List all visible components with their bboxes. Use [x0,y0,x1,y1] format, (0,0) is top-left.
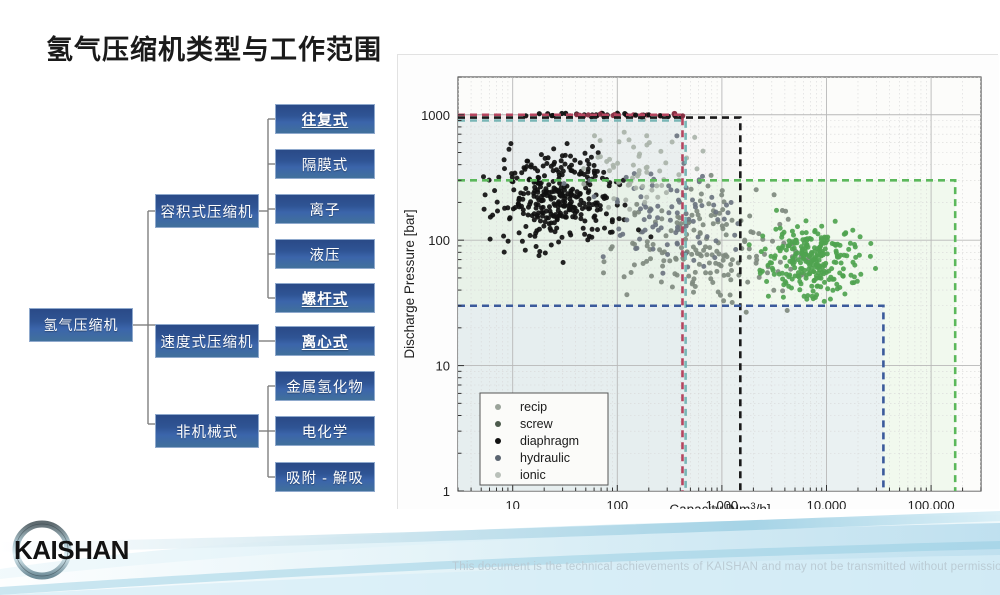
data-point-hydraulic [722,217,727,222]
data-point-screw [780,271,785,276]
data-point-hydraulic [649,207,654,212]
data-point-recip [698,230,703,235]
legend-label-ionic: ionic [520,468,546,482]
data-point-recip [624,292,629,297]
data-point-screw [852,274,857,279]
data-point-recip [697,262,702,267]
data-point-diaphragm [501,234,506,239]
data-point-recip [659,216,664,221]
data-point-ionic [581,182,586,187]
data-point-screw [823,235,828,240]
data-point-diaphragm [595,169,600,174]
data-point-diaphragm [544,161,549,166]
data-point-diaphragm [574,209,579,214]
data-point-screw [822,299,827,304]
data-point-diaphragm [544,189,549,194]
tree-leaf-label: 液压 [310,244,341,265]
data-point-hydraulic [638,206,643,211]
legend-marker-ionic [495,472,501,478]
data-point-screw [766,294,771,299]
data-point-diaphragm [570,187,575,192]
tree-leaf-electrochemical[interactable]: 电化学 [275,416,375,446]
data-point-screw [793,274,798,279]
data-point-screw [804,218,809,223]
data-point-screw [819,276,824,281]
data-point-recip [610,244,615,249]
tree-node-branch-positive-displacement[interactable]: 容积式压缩机 [155,194,259,228]
data-point-recip [660,264,665,269]
data-point-screw [776,246,781,251]
tree-leaf-centrifugal[interactable]: 离心式 [275,326,375,356]
data-point-hydraulic [696,235,701,240]
data-point-recip [730,300,735,305]
data-point-screw [842,253,847,258]
data-point-recip [721,298,726,303]
data-point-diaphragm [530,213,535,218]
data-point-diaphragm [549,212,554,217]
data-point-recip [745,280,750,285]
data-point-recip [648,256,653,261]
data-point-screw [806,267,811,272]
data-point-diaphragm [556,240,561,245]
data-point-diaphragm [539,194,544,199]
data-point-hydraulic [665,242,670,247]
data-point-diaphragm [541,224,546,229]
data-point-recip [721,253,726,258]
data-point-diaphragm [589,155,594,160]
data-point-diaphragm [508,141,513,146]
data-point-screw [779,235,784,240]
data-point-hydraulic [701,264,706,269]
data-point-diaphragm [607,183,612,188]
data-point-screw [843,231,848,236]
data-point-diaphragm [535,215,540,220]
data-point-diaphragm [496,175,501,180]
data-point-recip [722,273,727,278]
legend-label-screw: screw [520,417,554,431]
data-point-screw [833,219,838,224]
tree-leaf-adsorption-desorption[interactable]: 吸附 - 解吸 [275,462,375,492]
data-point-screw [807,271,812,276]
data-point-hydraulic [691,219,696,224]
data-point-hydraulic [690,198,695,203]
data-point-screw [792,265,797,270]
data-point-hydraulic [562,181,567,186]
data-point-hydraulic [653,222,658,227]
data-point-hydraulic [676,198,681,203]
tree-leaf-hydraulic[interactable]: 液压 [275,239,375,269]
data-point-recip [730,218,735,223]
data-point-screw [782,230,787,235]
data-point-screw [809,253,814,258]
data-point-diaphragm [585,237,590,242]
data-point-screw [798,260,803,265]
data-point-ionic [611,163,616,168]
data-point-recip [708,276,713,281]
data-point-screw [817,258,822,263]
data-point-recip [699,192,704,197]
data-point-screw [825,286,830,291]
data-point-recip [728,277,733,282]
data-point-recip [772,192,777,197]
data-point-diaphragm [508,215,513,220]
data-point-diaphragm [495,209,500,214]
data-point-screw [858,272,863,277]
data-point-screw [791,233,796,238]
data-point-diaphragm [574,195,579,200]
data-point-hydraulic [714,238,719,243]
tree-leaf-screw[interactable]: 螺杆式 [275,283,375,313]
data-point-recip [634,202,639,207]
data-point-diaphragm [488,215,493,220]
data-point-ionic [701,149,706,154]
data-point-ionic [644,165,649,170]
data-point-diaphragm [648,234,653,239]
data-point-diaphragm [587,182,592,187]
data-point-screw [815,246,820,251]
data-point-recip [785,308,790,313]
data-point-hydraulic [650,183,655,188]
data-point-diaphragm [559,158,564,163]
data-point-diaphragm [528,233,533,238]
data-point-diaphragm [563,194,568,199]
data-point-diaphragm [572,158,577,163]
data-point-screw [829,266,834,271]
data-point-recip [707,245,712,250]
data-point-diaphragm [546,155,551,160]
data-point-screw [821,251,826,256]
data-point-hydraulic [705,234,710,239]
data-point-recip [729,268,734,273]
legend-label-hydraulic: hydraulic [520,451,570,465]
data-point-diaphragm [534,202,539,207]
data-point-ionic [644,133,649,138]
y-tick-label: 1000 [421,108,450,123]
data-point-hydraulic [651,247,656,252]
tree-leaf-label: 离心式 [302,331,349,352]
data-point-ionic [627,182,632,187]
tree-node-branch-non-mechanical[interactable]: 非机械式 [155,414,259,448]
data-point-screw [797,287,802,292]
data-point-diaphragm [581,201,586,206]
data-point-hydraulic [675,225,680,230]
data-point-screw [790,246,795,251]
footer-band: KAISHAN This document is the technical a… [0,509,1000,595]
data-point-recip [721,258,726,263]
data-point-diaphragm [525,159,530,164]
data-point-recip [714,269,719,274]
data-point-hydraulic [699,203,704,208]
data-point-hydraulic [643,205,648,210]
data-point-ionic [598,138,603,143]
data-point-ionic [622,130,627,135]
data-point-ionic [655,195,660,200]
data-point-screw [787,259,792,264]
data-point-diaphragm [542,173,547,178]
data-point-screw [827,277,832,282]
data-point-hydraulic [638,194,643,199]
data-point-diaphragm [539,198,544,203]
data-point-ionic [631,145,636,150]
data-point-recip [708,271,713,276]
data-point-diaphragm [552,201,557,206]
data-point-screw [804,276,809,281]
data-point-diaphragm [590,227,595,232]
chart-legend: recipscrewdiaphragmhydraulicionic [480,393,608,485]
tree-leaf-label: 螺杆式 [302,288,349,309]
data-point-ionic [654,183,659,188]
data-point-diaphragm [521,207,526,212]
data-point-screw [819,224,824,229]
data-point-screw [802,252,807,257]
data-point-hydraulic [618,233,623,238]
data-point-diaphragm [522,167,527,172]
data-point-diaphragm [552,195,557,200]
data-point-screw [839,261,844,266]
data-point-ionic [676,172,681,177]
data-point-screw [833,260,838,265]
data-point-diaphragm [602,226,607,231]
data-point-screw [804,230,809,235]
data-point-hydraulic [732,233,737,238]
data-point-recip [713,261,718,266]
data-point-ionic [598,154,603,159]
tree-leaf-metal-hydride[interactable]: 金属氢化物 [275,371,375,401]
data-point-diaphragm [623,203,628,208]
data-point-ionic [692,135,697,140]
logo-wordmark: KAISHAN [14,535,129,565]
data-point-screw [774,208,779,213]
data-point-screw [781,295,786,300]
data-point-recip [675,273,680,278]
data-point-recip [632,262,637,267]
data-point-diaphragm [592,163,597,168]
data-point-recip [754,187,759,192]
data-point-hydraulic [711,203,716,208]
data-point-diaphragm [565,141,570,146]
data-point-recip [765,270,770,275]
data-point-ionic [607,168,612,173]
data-point-screw [830,288,835,293]
data-point-diaphragm [533,231,538,236]
data-point-recip [691,290,696,295]
data-point-diaphragm [595,227,600,232]
tree-leaf-ionic[interactable]: 离子 [275,194,375,224]
data-point-recip [720,223,725,228]
data-point-top-band [537,111,542,116]
data-point-ionic [649,188,654,193]
data-point-diaphragm [548,226,553,231]
data-point-diaphragm [511,187,516,192]
data-point-diaphragm [604,195,609,200]
data-point-screw [795,224,800,229]
tree-node-branch-label: 容积式压缩机 [161,201,254,222]
data-point-screw [850,228,855,233]
data-point-ionic [695,166,700,171]
data-point-screw [783,279,788,284]
data-point-diaphragm [585,158,590,163]
data-point-diaphragm [590,144,595,149]
data-point-diaphragm [523,248,528,253]
data-point-recip [690,213,695,218]
data-point-recip [706,184,711,189]
data-point-hydraulic [655,204,660,209]
tree-leaf-reciprocating[interactable]: 往复式 [275,104,375,134]
data-point-screw [794,238,799,243]
data-point-diaphragm [539,152,544,157]
data-point-diaphragm [502,250,507,255]
data-point-recip [717,252,722,257]
data-point-diaphragm [544,209,549,214]
data-point-screw [787,238,792,243]
data-point-diaphragm [513,205,518,210]
data-point-screw [846,247,851,252]
data-point-hydraulic [669,204,674,209]
data-point-hydraulic [693,202,698,207]
data-point-ionic [592,133,597,138]
legend-marker-diaphragm [495,438,501,444]
data-point-recip [701,222,706,227]
tree-node-branch-label: 速度式压缩机 [161,331,254,352]
data-point-diaphragm [604,211,609,216]
data-point-hydraulic [686,217,691,222]
data-point-screw [812,229,817,234]
data-point-hydraulic [666,210,671,215]
data-point-diaphragm [534,244,539,249]
data-point-diaphragm [483,192,488,197]
tree-leaf-diaphragm[interactable]: 隔膜式 [275,149,375,179]
data-point-screw [834,249,839,254]
data-point-screw [811,289,816,294]
data-point-recip [707,261,712,266]
data-point-screw [793,253,798,258]
data-point-screw [773,227,778,232]
data-point-recip [754,254,759,259]
data-point-recip [659,208,664,213]
data-point-recip [622,274,627,279]
data-point-recip [693,284,698,289]
data-point-screw [758,271,763,276]
data-point-diaphragm [528,199,533,204]
data-point-screw [822,280,827,285]
data-point-diaphragm [526,205,531,210]
data-point-diaphragm [551,168,556,173]
data-point-diaphragm [601,170,606,175]
data-point-diaphragm [521,191,526,196]
data-point-recip [780,288,785,293]
data-point-hydraulic [592,194,597,199]
data-point-ionic [637,168,642,173]
data-point-diaphragm [583,151,588,156]
data-point-screw [808,261,813,266]
data-point-recip [686,274,691,279]
data-point-diaphragm [563,210,568,215]
data-point-recip [704,252,709,257]
data-point-recip [783,209,788,214]
data-point-recip [771,288,776,293]
data-point-hydraulic [729,200,734,205]
data-point-hydraulic [684,211,689,216]
data-point-diaphragm [570,168,575,173]
data-point-screw [802,241,807,246]
data-point-hydraulic [665,252,670,257]
tree-leaf-label: 隔膜式 [302,154,349,175]
data-point-diaphragm [563,162,568,167]
data-point-recip [720,188,725,193]
data-point-screw [759,249,764,254]
data-point-recip [720,207,725,212]
data-point-screw [800,247,805,252]
data-point-diaphragm [561,260,566,265]
data-point-ionic [658,149,663,154]
data-point-diaphragm [549,243,554,248]
data-point-diaphragm [544,193,549,198]
data-point-hydraulic [660,271,665,276]
data-point-ionic [617,139,622,144]
y-tick-label: 10 [436,359,450,374]
data-point-screw [822,269,827,274]
data-point-recip [719,263,724,268]
data-point-ionic [623,198,628,203]
data-point-diaphragm [578,191,583,196]
data-point-screw [835,255,840,260]
data-point-diaphragm [568,154,573,159]
data-point-diaphragm [492,188,497,193]
data-point-diaphragm [509,171,514,176]
data-point-ionic [635,174,640,179]
tree-node-root[interactable]: 氢气压缩机 [29,308,133,342]
data-point-recip [706,201,711,206]
data-point-recip [747,255,752,260]
data-point-screw [873,266,878,271]
tree-node-branch-dynamic[interactable]: 速度式压缩机 [155,324,259,358]
data-point-diaphragm [560,235,565,240]
data-point-recip [724,232,729,237]
tree-node-root-label: 氢气压缩机 [44,315,119,335]
y-tick-label: 100 [428,233,450,248]
data-point-diaphragm [581,226,586,231]
data-point-hydraulic [637,237,642,242]
y-tick-label: 1 [443,484,450,499]
data-point-ionic [664,190,669,195]
data-point-screw [851,260,856,265]
data-point-hydraulic [712,255,717,260]
data-point-diaphragm [617,216,622,221]
data-point-diaphragm [532,194,537,199]
data-point-hydraulic [726,210,731,215]
data-point-hydraulic [697,240,702,245]
data-point-top-band [633,113,638,118]
watermark-text: This document is the technical achieveme… [452,561,1000,573]
data-point-diaphragm [549,221,554,226]
data-point-diaphragm [547,204,552,209]
data-point-screw [787,273,792,278]
data-point-diaphragm [529,162,534,167]
data-point-diaphragm [517,196,522,201]
data-point-diaphragm [580,206,585,211]
data-point-diaphragm [540,214,545,219]
data-point-recip [689,187,694,192]
data-point-diaphragm [559,165,564,170]
data-point-diaphragm [558,213,563,218]
data-point-recip [689,252,694,257]
data-point-diaphragm [560,153,565,158]
data-point-recip [703,270,708,275]
data-point-recip [674,257,679,262]
legend-marker-hydraulic [495,455,501,461]
data-point-diaphragm [502,206,507,211]
data-point-recip [602,259,607,264]
